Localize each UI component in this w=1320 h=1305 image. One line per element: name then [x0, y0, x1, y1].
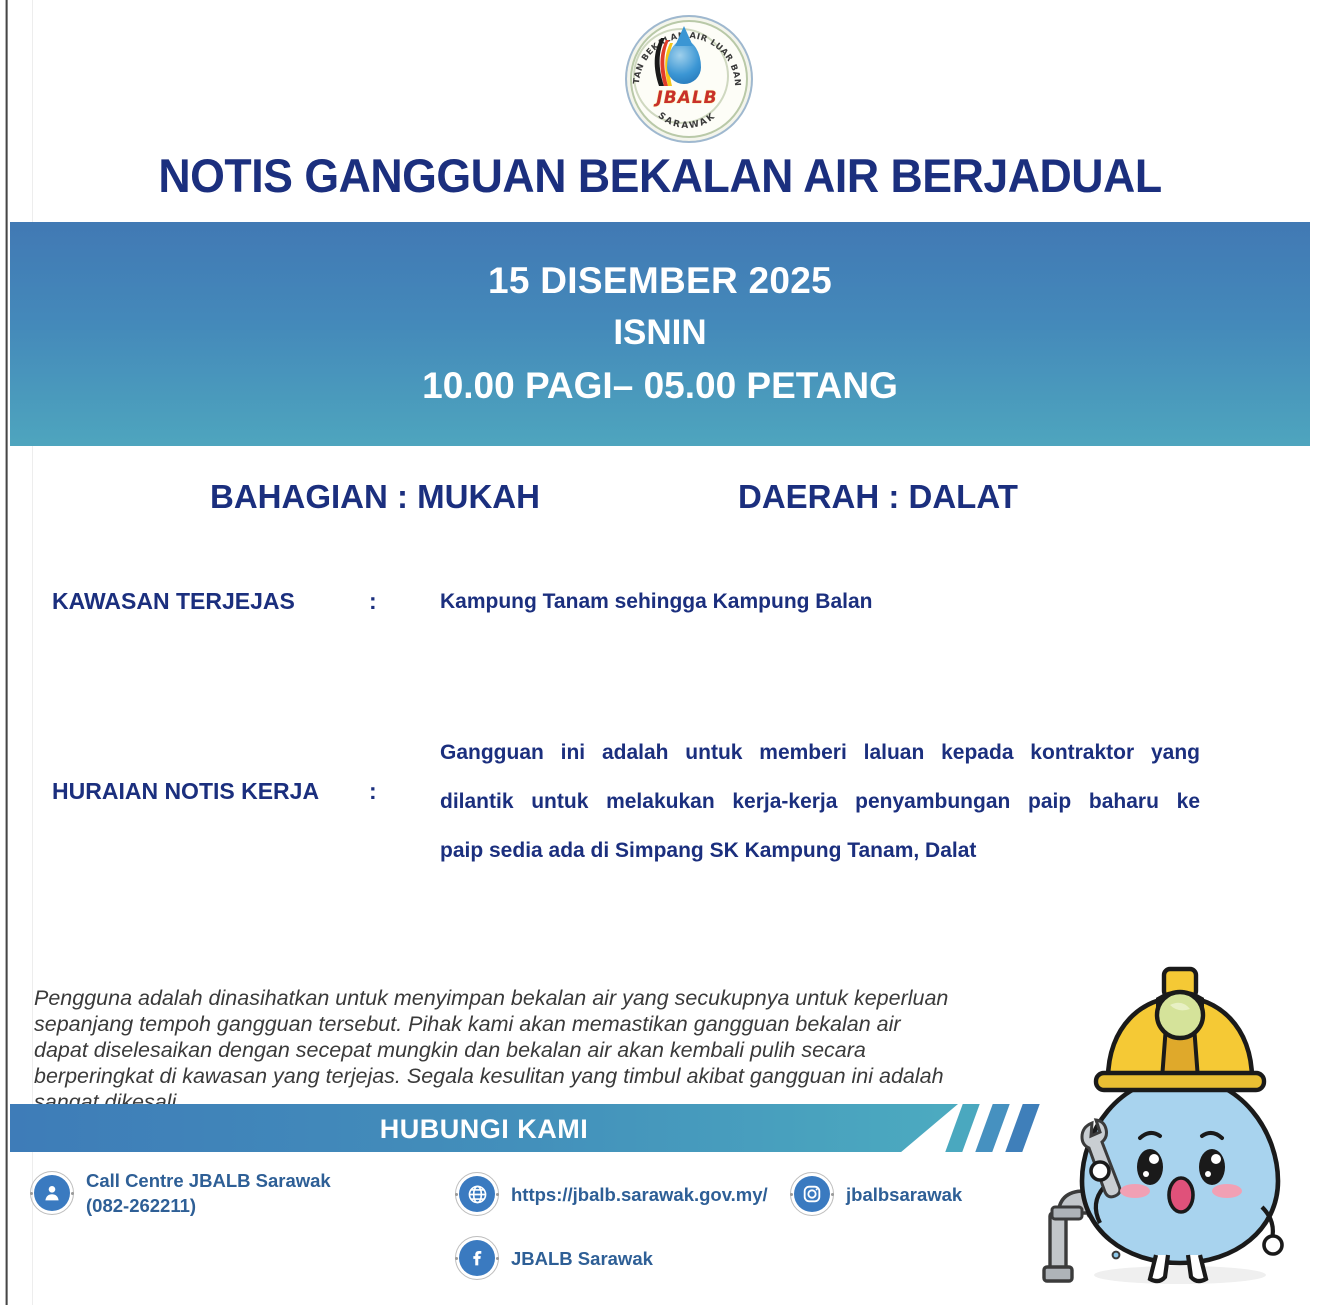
hard-hat-icon [1096, 969, 1264, 1090]
call-centre-text: Call Centre JBALB Sarawak (082-262211) [86, 1168, 331, 1218]
instagram-icon [790, 1172, 834, 1216]
jbalb-logo: JABATAN BEKALAN AIR LUAR BANDAR SARAWAK … [617, 12, 757, 142]
work-description-label: HURAIAN NOTIS KERJA [52, 778, 319, 805]
contact-instagram[interactable]: jbalbsarawak [790, 1172, 962, 1216]
page-title: NOTIS GANGGUAN BEKALAN AIR BERJADUAL [43, 148, 1278, 203]
schedule-band: 15 DISEMBER 2025 ISNIN 10.00 PAGI– 05.00… [10, 222, 1310, 446]
affected-area-label: KAWASAN TERJEJAS [52, 588, 295, 615]
work-description-line-3: paip sedia ada di Simpang SK Kampung Tan… [440, 826, 1200, 875]
work-description-line-1: Gangguan ini adalah untuk memberi laluan… [440, 728, 1200, 777]
person-icon [30, 1171, 74, 1215]
affected-area-colon: : [369, 588, 377, 615]
advisory-text: Pengguna adalah dinasihatkan untuk menyi… [34, 985, 959, 1115]
website-url: https://jbalb.sarawak.gov.my/ [511, 1182, 768, 1207]
disruption-date: 15 DISEMBER 2025 [488, 255, 832, 307]
district-label: DAERAH : DALAT [738, 478, 1018, 516]
contact-call-centre[interactable]: Call Centre JBALB Sarawak (082-262211) [30, 1168, 331, 1218]
contact-facebook[interactable]: JBALB Sarawak [455, 1236, 653, 1280]
work-description-line-2: dilantik untuk melakukan kerja-kerja pen… [440, 777, 1200, 826]
globe-icon [455, 1172, 499, 1216]
division-label: BAHAGIAN : MUKAH [210, 478, 540, 516]
decor-slash-2-icon [975, 1104, 1009, 1152]
call-centre-phone: (082-262211) [86, 1193, 331, 1218]
disruption-time: 10.00 PAGI– 05.00 PETANG [422, 359, 898, 413]
facebook-page: JBALB Sarawak [511, 1246, 653, 1271]
facebook-icon [455, 1236, 499, 1280]
disruption-day: ISNIN [613, 307, 706, 359]
region-row: BAHAGIAN : MUKAH DAERAH : DALAT [10, 478, 1310, 522]
work-description-colon: : [369, 778, 377, 805]
page-edge-line [5, 0, 8, 1305]
water-disruption-notice-poster: JABATAN BEKALAN AIR LUAR BANDAR SARAWAK … [0, 0, 1320, 1305]
work-description-value: Gangguan ini adalah untuk memberi laluan… [440, 728, 1200, 875]
affected-area-value: Kampung Tanam sehingga Kampung Balan [440, 590, 873, 614]
instagram-handle: jbalbsarawak [846, 1182, 962, 1207]
contact-website[interactable]: https://jbalb.sarawak.gov.my/ [455, 1172, 768, 1216]
call-centre-name: Call Centre JBALB Sarawak [86, 1170, 331, 1191]
contact-banner-title: HUBUNGI KAMI [10, 1114, 958, 1145]
logo-acronym: JBALB [617, 88, 757, 108]
water-droplet-mascot-icon [1030, 955, 1320, 1295]
